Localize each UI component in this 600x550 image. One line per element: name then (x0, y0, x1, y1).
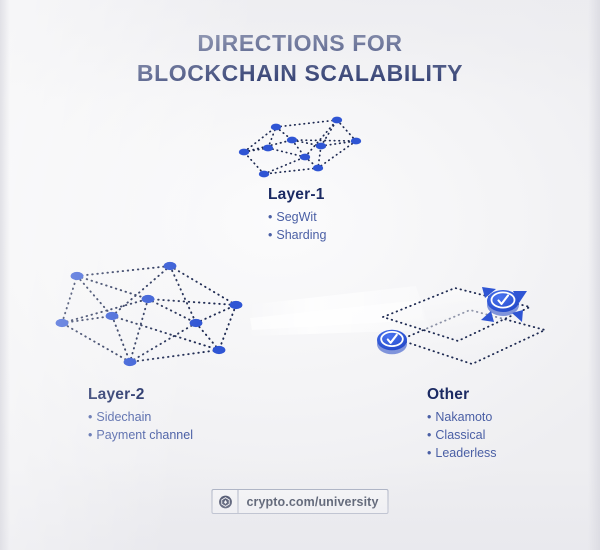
layer2-node-mesh (62, 266, 236, 362)
section-layer2: Layer-2 Sidechain Payment channel (88, 386, 193, 445)
bullet-item: Leaderless (427, 445, 497, 463)
footer-url-text: crypto.com/university (238, 495, 387, 509)
section-heading-layer2: Layer-2 (88, 386, 193, 404)
section-bullets-layer1: SegWit Sharding (268, 209, 326, 245)
section-other: Other Nakamoto Classical Leaderless (427, 386, 497, 462)
footer-badge[interactable]: crypto.com/university (211, 489, 388, 514)
crypto-com-logo-icon (212, 490, 238, 513)
layer1-nodes (239, 117, 361, 178)
section-bullets-other: Nakamoto Classical Leaderless (427, 409, 497, 462)
bullet-item: Payment channel (88, 427, 193, 445)
bullet-item: Sharding (268, 227, 326, 245)
check-badge-bottom (377, 330, 407, 355)
bullet-item: SegWit (268, 209, 326, 227)
diagram-graphics (0, 0, 600, 550)
bullet-item: Nakamoto (427, 409, 497, 427)
layer1-node-mesh (244, 120, 356, 174)
check-badge-top (487, 290, 519, 316)
section-heading-layer1: Layer-1 (268, 186, 326, 204)
section-heading-other: Other (427, 386, 497, 404)
bullet-item: Classical (427, 427, 497, 445)
section-bullets-layer2: Sidechain Payment channel (88, 409, 193, 445)
infographic-canvas: DIRECTIONS FOR BLOCKCHAIN SCALABILITY (0, 0, 600, 550)
bullet-item: Sidechain (88, 409, 193, 427)
section-layer1: Layer-1 SegWit Sharding (268, 186, 326, 245)
